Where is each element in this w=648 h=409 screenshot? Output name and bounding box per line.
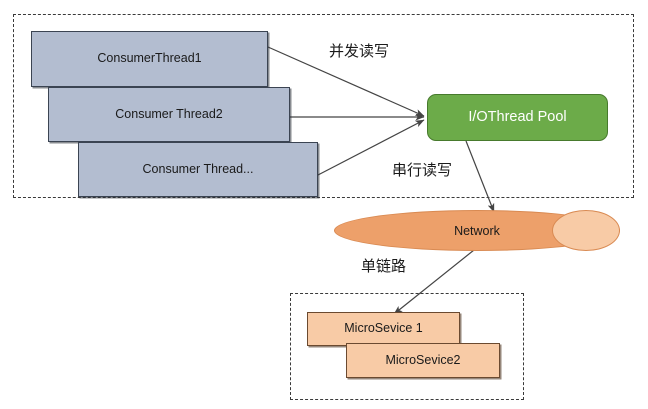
edge-label-serial-read-write: 串行读写 (392, 159, 452, 180)
consumer-thread-label-1: ConsumerThread1 (97, 52, 201, 66)
microservice-box-2[interactable]: MicroSevice2 (346, 343, 500, 378)
consumer-thread-label-2: Consumer Thread2 (115, 108, 222, 122)
microservice-label-2: MicroSevice2 (385, 354, 460, 368)
io-thread-pool-box[interactable]: I/OThread Pool (427, 94, 608, 141)
consumer-thread-label-3: Consumer Thread... (143, 163, 254, 177)
consumer-thread-box-1[interactable]: ConsumerThread1 (31, 31, 268, 87)
network-cylinder[interactable]: Network (334, 210, 620, 251)
edge-label-concurrent-read-write: 并发读写 (329, 40, 389, 61)
edge-label-single-link: 单链路 (361, 255, 406, 276)
microservice-box-1[interactable]: MicroSevice 1 (307, 312, 460, 346)
diagram-canvas: ConsumerThread1 Consumer Thread2 Consume… (0, 0, 648, 409)
network-label: Network (334, 224, 620, 238)
io-thread-pool-label: I/OThread Pool (468, 110, 566, 126)
microservice-label-1: MicroSevice 1 (344, 322, 423, 336)
consumer-thread-box-2[interactable]: Consumer Thread2 (48, 87, 290, 142)
consumer-thread-box-3[interactable]: Consumer Thread... (78, 142, 318, 197)
